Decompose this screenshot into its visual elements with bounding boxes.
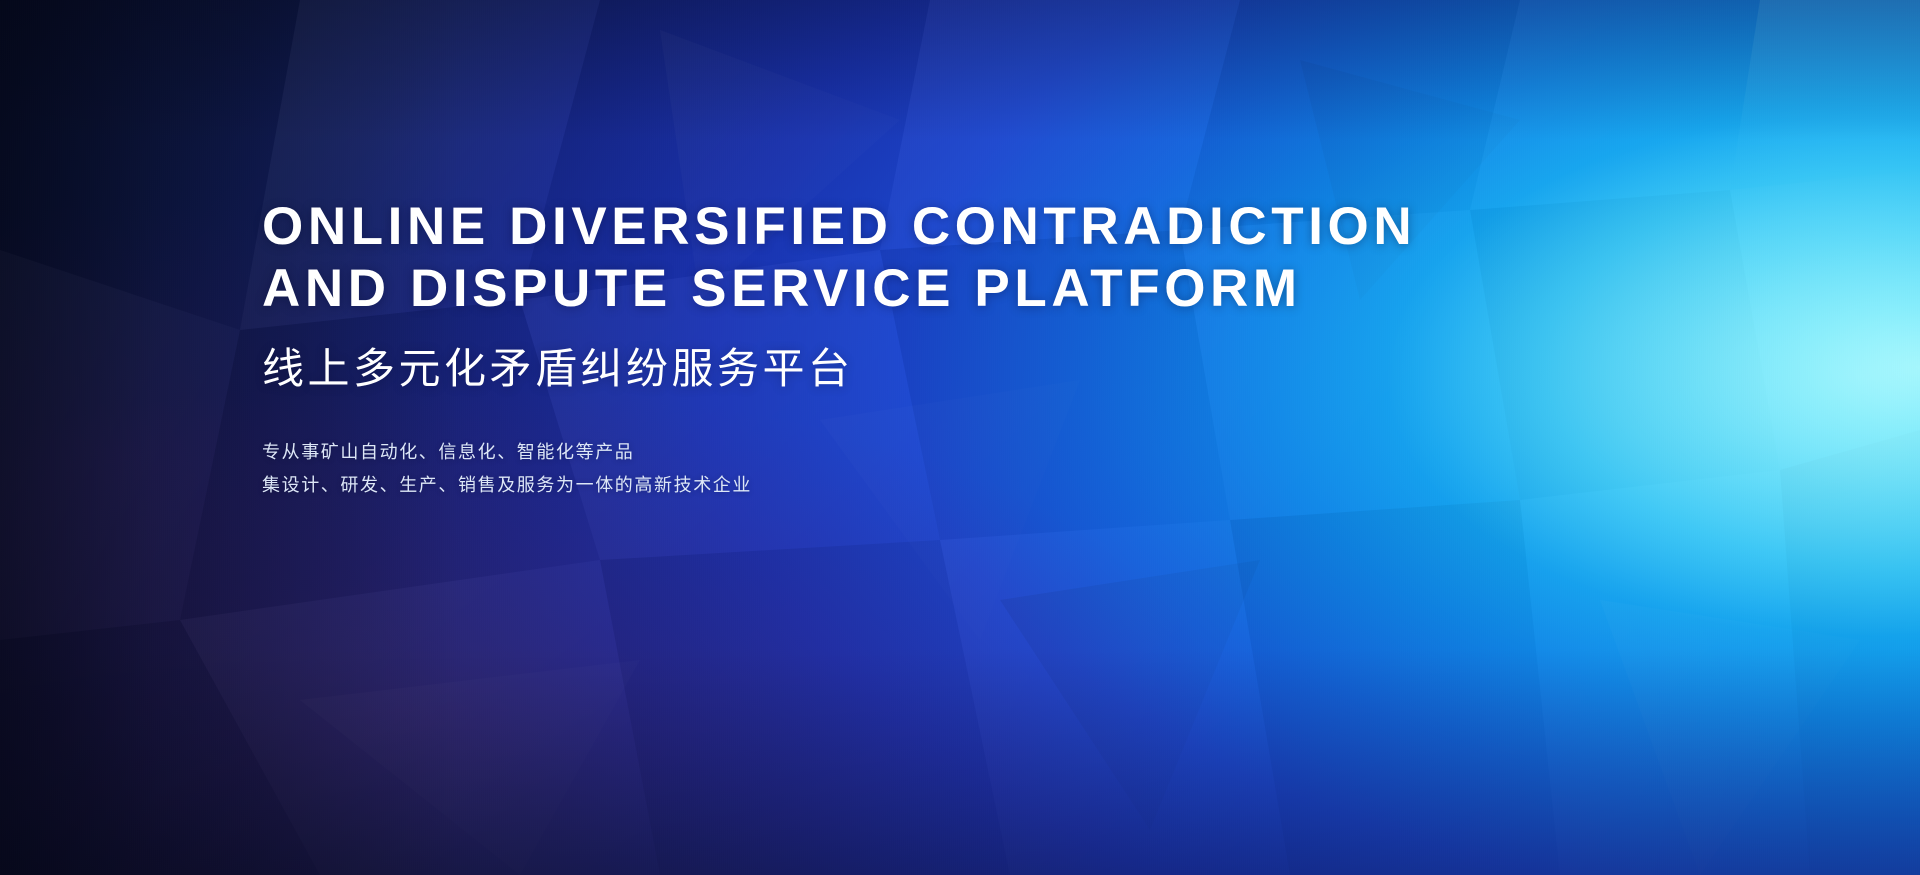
headline-english-line-2: AND DISPUTE SERVICE PLATFORM	[262, 258, 1382, 320]
hero-banner: ONLINE DIVERSIFIED CONTRADICTION AND DIS…	[0, 0, 1920, 875]
headline-english-line-1: ONLINE DIVERSIFIED CONTRADICTION	[262, 196, 1382, 258]
subcopy-line-1: 专从事矿山自动化、信息化、智能化等产品	[262, 436, 1382, 469]
subcopy-block: 专从事矿山自动化、信息化、智能化等产品 集设计、研发、生产、销售及服务为一体的高…	[262, 396, 1382, 502]
subcopy-line-2: 集设计、研发、生产、销售及服务为一体的高新技术企业	[262, 469, 1382, 502]
headline-chinese: 线上多元化矛盾纠纷服务平台	[262, 320, 1382, 396]
banner-content: ONLINE DIVERSIFIED CONTRADICTION AND DIS…	[262, 196, 1382, 502]
